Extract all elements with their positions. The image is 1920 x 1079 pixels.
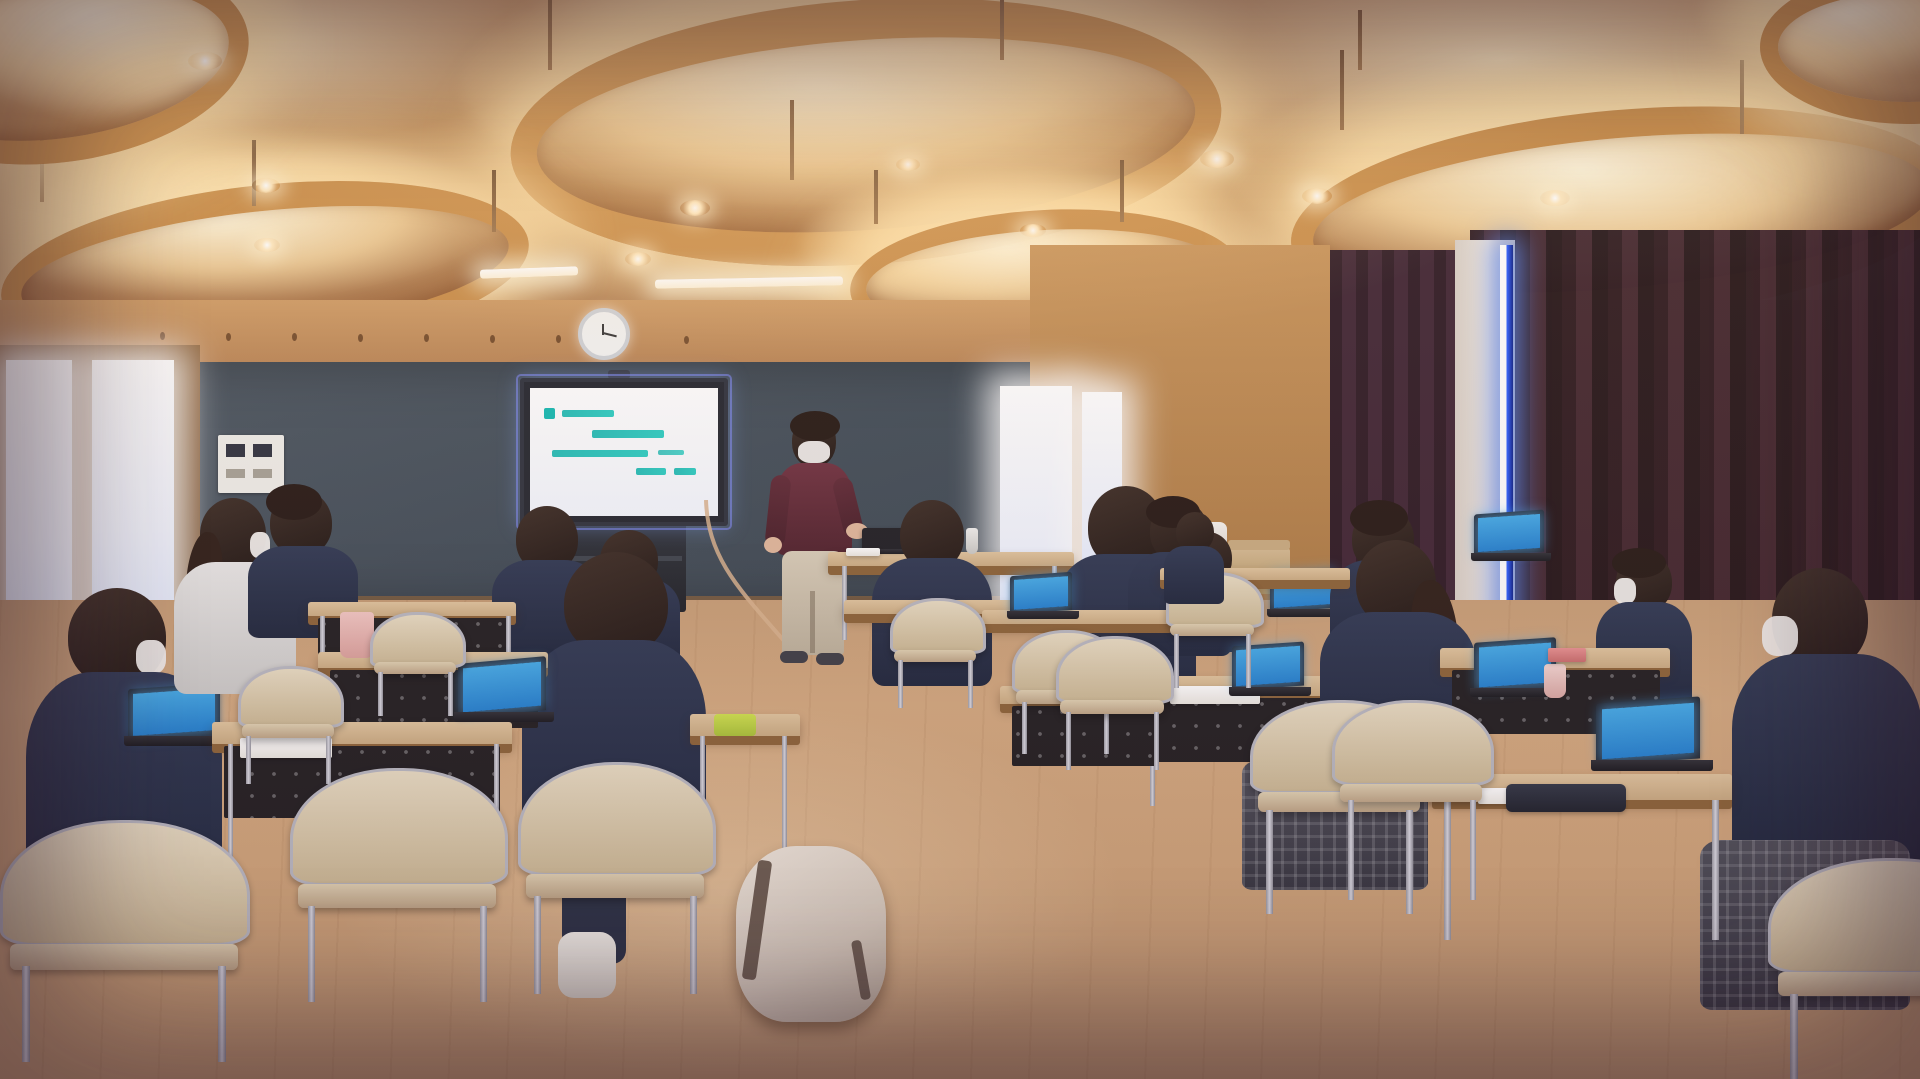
teacher-shoe [816,653,844,665]
pink-item [1548,648,1586,662]
downlight-icon [188,52,222,70]
classroom-photo: Elementary school classroom ICT lesson J… [0,0,1920,1079]
downlight-icon [252,178,280,193]
folding-chair[interactable] [1768,858,1920,1078]
teacher-hair [790,411,840,441]
student-hair [266,484,322,520]
student-s14 [1164,512,1224,592]
drink-cup[interactable] [340,612,374,658]
wall-clock [578,308,630,360]
downlight-icon [1020,224,1046,237]
suspension-rod [874,170,878,224]
downlight-icon [896,158,920,171]
student-laptop[interactable] [458,660,552,722]
slide-surface [530,388,718,516]
suspension-rod [790,100,794,180]
student-hair [1612,548,1666,578]
student-torso [1164,546,1224,604]
suspension-rod [548,0,552,70]
student-laptop[interactable] [1010,574,1076,620]
downlight-icon [625,252,651,266]
teacher-hand-left [764,537,782,553]
suspension-rod [1000,0,1004,60]
desk-leg [782,736,787,856]
slide-line [636,468,666,475]
suspension-rod [1340,50,1344,130]
student-laptop[interactable] [1596,700,1706,772]
interactive-whiteboard[interactable] [520,378,728,526]
folding-chair[interactable] [1056,636,1172,772]
slide-line [658,450,684,455]
suspension-rod [252,140,256,206]
student-hair [1350,500,1408,536]
teacher-shoe [780,651,808,663]
folding-chair[interactable] [370,612,462,722]
wall-control-panel[interactable] [218,435,284,493]
downlight-icon [1200,150,1234,168]
folding-chair[interactable] [290,768,506,998]
downlight-icon [254,238,280,252]
desk-leg [1712,800,1719,940]
student-mask [1762,616,1798,656]
downlight-icon [1540,190,1570,206]
slide-line [674,468,696,475]
folding-chair[interactable] [890,598,982,708]
slide-line [592,430,664,438]
teacher-mask [798,441,830,463]
slide-line [552,450,648,457]
student-mask [1614,578,1636,604]
pencil-pouch[interactable] [1506,784,1626,812]
folding-chair[interactable] [518,762,714,992]
drink-cup[interactable] [1544,664,1566,698]
pencil-case[interactable] [714,714,756,736]
folding-chair[interactable] [1332,700,1492,910]
suspension-rod [1358,10,1362,70]
suspension-rod [492,170,496,232]
slide-bullet-icon [544,408,555,419]
folding-chair[interactable] [0,820,250,1060]
downlight-icon [1302,188,1332,204]
downlight-icon [680,200,710,216]
student-laptop[interactable] [1474,512,1548,562]
slide-line [562,410,614,417]
suspension-rod [1120,160,1124,222]
suspension-rod [1740,60,1744,134]
teacher-leg-gap [810,591,815,653]
